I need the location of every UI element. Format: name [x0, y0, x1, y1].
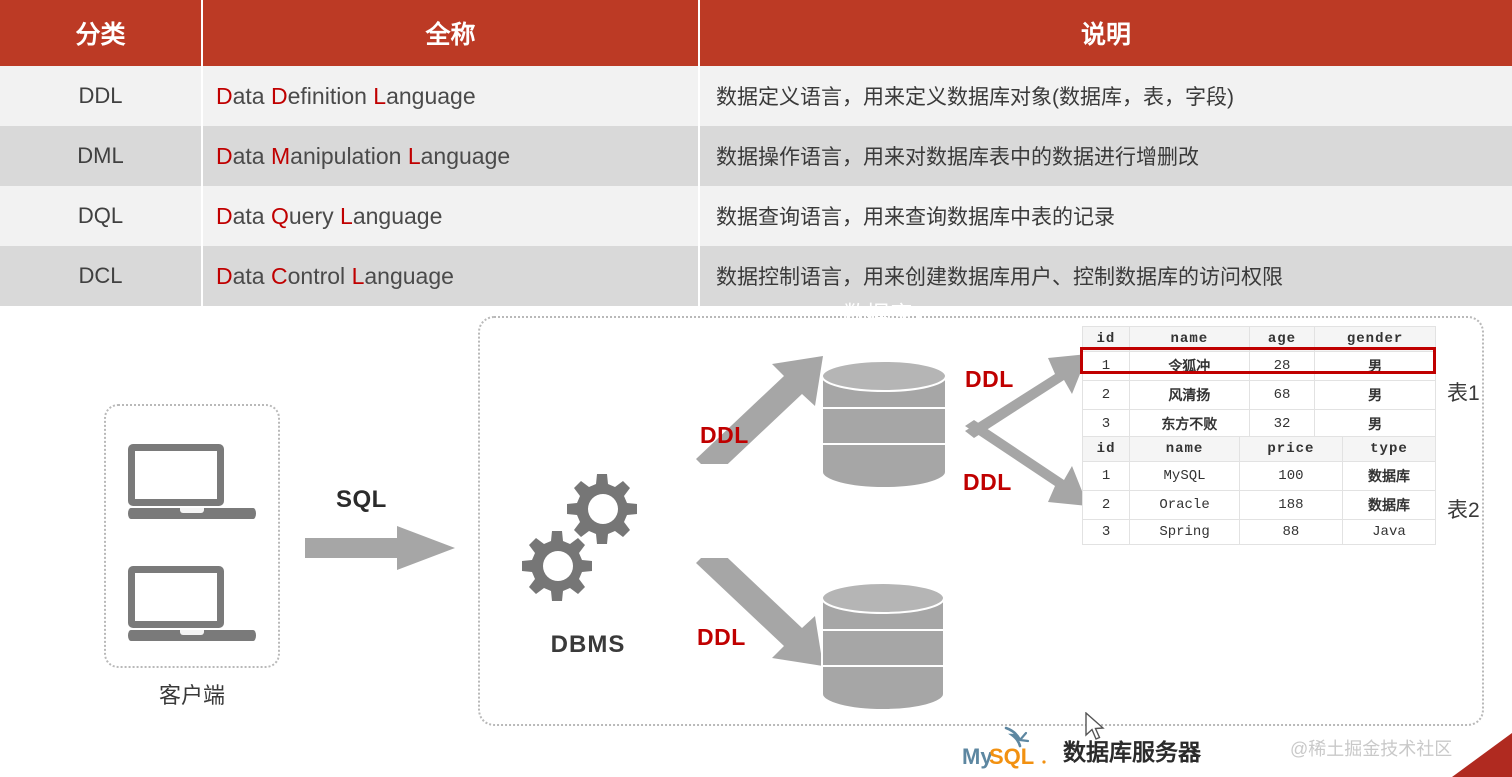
data-cell: 男: [1315, 352, 1436, 381]
table1-tag: 表1: [1447, 377, 1480, 407]
cap-letter: C: [271, 263, 288, 289]
data-table-row: 3 东方不败 32 男: [1083, 410, 1436, 439]
ddl-arrow-to-db2-icon: [688, 558, 828, 668]
data-col-header: name: [1130, 437, 1240, 462]
mysql-logo-icon: My SQL: [960, 724, 1058, 770]
table-row: DDL Data Definition Language 数据定义语言，用来定义…: [0, 66, 1512, 126]
cell-fullname: Data Definition Language: [203, 66, 700, 126]
data-cell: 100: [1239, 462, 1342, 491]
data-cell: Oracle: [1130, 491, 1240, 520]
ddl-label: DDL: [700, 422, 749, 449]
cap-letter: L: [408, 143, 421, 169]
data-cell: 2: [1083, 491, 1130, 520]
data-cell: MySQL: [1130, 462, 1240, 491]
column-header-category: 分类: [0, 0, 203, 66]
cap-letter: D: [216, 263, 233, 289]
ddl-label: DDL: [965, 366, 1014, 393]
data-table-2: id name price type 1 MySQL 100 数据库 2: [1082, 436, 1436, 545]
cell-description: 数据查询语言，用来查询数据库中表的记录: [700, 186, 1512, 246]
cap-letter: Q: [271, 203, 289, 229]
table-header-row: 分类 全称 说明: [0, 0, 1512, 66]
cap-letter: D: [216, 83, 233, 109]
rest-text: ontrol: [288, 263, 352, 289]
data-cell: 88: [1239, 520, 1342, 545]
cap-letter: L: [340, 203, 353, 229]
data-table-row: 2 风清扬 68 男: [1083, 381, 1436, 410]
rest-text: anguage: [386, 83, 476, 109]
rest-text: ata: [233, 83, 271, 109]
data-cell: 男: [1315, 410, 1436, 439]
data-cell: 3: [1083, 410, 1130, 439]
data-cell: 1: [1083, 462, 1130, 491]
data-cell: 数据库: [1342, 491, 1435, 520]
client-group-box: [104, 404, 280, 668]
cap-letter: L: [352, 263, 365, 289]
data-cell: 风清扬: [1129, 381, 1249, 410]
cap-letter: M: [271, 143, 290, 169]
data-cell: 68: [1249, 381, 1314, 410]
cap-letter: D: [216, 203, 233, 229]
data-table-row: 2 Oracle 188 数据库: [1083, 491, 1436, 520]
rest-text: ata: [233, 203, 271, 229]
data-cell: 1: [1083, 352, 1130, 381]
data-col-header: id: [1083, 327, 1130, 352]
cell-description: 数据定义语言，用来定义数据库对象(数据库，表，字段): [700, 66, 1512, 126]
data-table-1: id name age gender 1 令狐冲 28 男 2: [1082, 326, 1436, 439]
rest-text: anguage: [364, 263, 454, 289]
database-cylinder-icon: [820, 360, 948, 490]
cell-fullname: Data Manipulation Language: [203, 126, 700, 186]
cap-letter: D: [271, 83, 288, 109]
data-col-header: age: [1249, 327, 1314, 352]
sql-arrow-label: SQL: [336, 486, 387, 514]
cell-category: DDL: [0, 66, 203, 126]
sql-arrow-icon: [305, 524, 455, 572]
laptop-icon: [128, 566, 256, 641]
client-label: 客户端: [104, 678, 280, 710]
sql-classification-table: 分类 全称 说明 DDL Data Definition Language 数据…: [0, 0, 1512, 306]
cap-letter: L: [373, 83, 386, 109]
data-cell: 男: [1315, 381, 1436, 410]
data-col-header: name: [1129, 327, 1249, 352]
data-table-row: 3 Spring 88 Java: [1083, 520, 1436, 545]
gears-icon: [508, 456, 668, 636]
database-cylinder-icon: [820, 582, 946, 712]
rest-text: anguage: [353, 203, 443, 229]
watermark-label: @稀土掘金技术社区: [1290, 735, 1452, 761]
slide-root: 分类 全称 说明 DDL Data Definition Language 数据…: [0, 0, 1512, 777]
cell-description: 数据操作语言，用来对数据库表中的数据进行增删改: [700, 126, 1512, 186]
rest-text: uery: [289, 203, 340, 229]
architecture-diagram: 客户端 SQL DBMS: [0, 306, 1512, 777]
table-row: DCL Data Control Language 数据控制语言，用来创建数据库…: [0, 246, 1512, 306]
data-cell: Spring: [1130, 520, 1240, 545]
data-table-row: 1 MySQL 100 数据库: [1083, 462, 1436, 491]
cell-fullname: Data Query Language: [203, 186, 700, 246]
data-cell: 28: [1249, 352, 1314, 381]
corner-decoration: [1452, 733, 1512, 777]
laptop-icon: [128, 444, 256, 519]
rest-text: efinition: [288, 83, 374, 109]
data-cell: 东方不败: [1129, 410, 1249, 439]
column-header-description: 说明: [700, 0, 1512, 66]
data-cell: Java: [1342, 520, 1435, 545]
rest-text: ata: [233, 143, 271, 169]
data-col-header: type: [1342, 437, 1435, 462]
rest-text: anguage: [421, 143, 511, 169]
data-cell: 32: [1249, 410, 1314, 439]
data-col-header: price: [1239, 437, 1342, 462]
cell-category: DCL: [0, 246, 203, 306]
cell-category: DML: [0, 126, 203, 186]
cell-category: DQL: [0, 186, 203, 246]
column-header-fullname: 全称: [203, 0, 700, 66]
svg-text:SQL: SQL: [989, 744, 1034, 769]
cell-fullname: Data Control Language: [203, 246, 700, 306]
database-server-label: 数据库服务器: [1063, 733, 1201, 767]
ddl-label: DDL: [697, 624, 746, 651]
table2-tag: 表2: [1447, 494, 1480, 524]
data-table-row: 1 令狐冲 28 男: [1083, 352, 1436, 381]
data-table-header-row: id name price type: [1083, 437, 1436, 462]
rest-text: anipulation: [290, 143, 408, 169]
ddl-label: DDL: [963, 469, 1012, 496]
data-cell: 3: [1083, 520, 1130, 545]
data-cell: 188: [1239, 491, 1342, 520]
data-cell: 令狐冲: [1129, 352, 1249, 381]
cell-description: 数据控制语言，用来创建数据库用户、控制数据库的访问权限: [700, 246, 1512, 306]
cap-letter: D: [216, 143, 233, 169]
data-col-header: gender: [1315, 327, 1436, 352]
table-row: DQL Data Query Language 数据查询语言，用来查询数据库中表…: [0, 186, 1512, 246]
data-col-header: id: [1083, 437, 1130, 462]
data-table-header-row: id name age gender: [1083, 327, 1436, 352]
data-cell: 2: [1083, 381, 1130, 410]
data-cell: 数据库: [1342, 462, 1435, 491]
dbms-label: DBMS: [508, 631, 668, 659]
table-row: DML Data Manipulation Language 数据操作语言，用来…: [0, 126, 1512, 186]
rest-text: ata: [233, 263, 271, 289]
